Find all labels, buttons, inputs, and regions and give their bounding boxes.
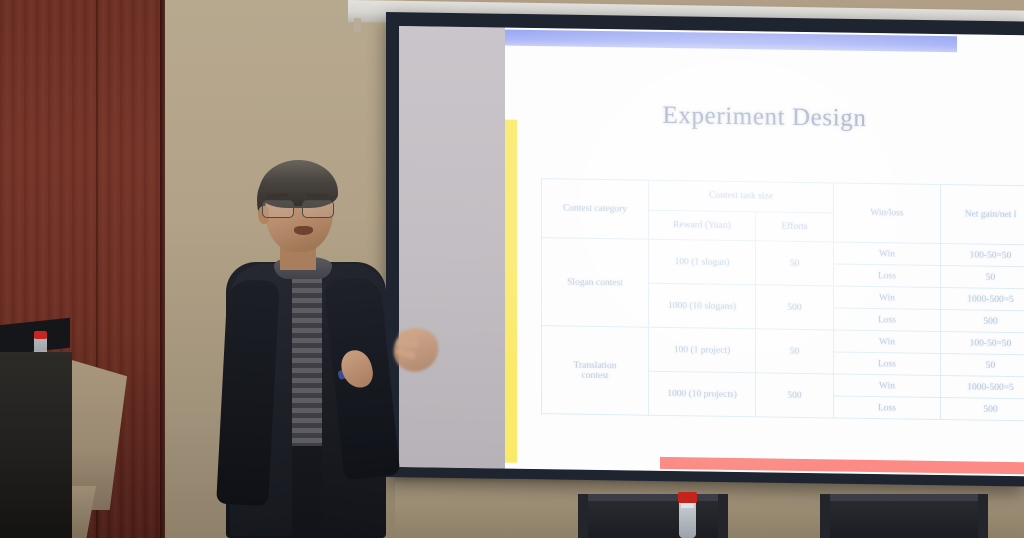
cell-net-gain: 1000-500=5 (941, 288, 1024, 311)
chair-right (820, 494, 988, 538)
cell-efforts-r3: 50 (756, 329, 834, 374)
chair-left-post (718, 494, 728, 538)
cell-reward-r4: 1000 (10 projects) (648, 371, 755, 417)
chair-right-post (820, 494, 830, 538)
cell-net-loss: 50 (941, 266, 1024, 289)
podium-body (0, 352, 72, 538)
chair-right-backrest (826, 494, 984, 501)
cell-outcome-loss: Loss (833, 308, 940, 332)
projected-slide: Experiment Design Contest category Conte… (505, 28, 1024, 477)
chair-left (578, 494, 728, 538)
th-reward-yuan: Reward (Yuan) (648, 210, 755, 241)
projection-screen-surface: Experiment Design Contest category Conte… (399, 26, 1024, 476)
experiment-design-table-wrap: Contest category Contest task size Win/l… (541, 178, 1024, 421)
cell-reward-r1: 100 (1 slogan) (648, 239, 755, 285)
slide-top-accent-bar (505, 30, 957, 53)
slide-title: Experiment Design (505, 100, 1024, 136)
presenter-sweater-front (292, 278, 322, 446)
finger (399, 329, 420, 338)
slide-left-accent-bar (505, 120, 517, 463)
cell-efforts-r4: 500 (756, 373, 834, 418)
glasses-lens-left (262, 200, 294, 218)
foreground-water-bottle-cap (678, 492, 697, 503)
cell-net-gain: 1000-500=5 (941, 376, 1024, 399)
glasses-lens-right (302, 200, 334, 218)
th-net-gain: Net gain/net l (941, 185, 1024, 245)
cell-reward-r2: 1000 (10 slogans) (648, 283, 755, 329)
experiment-design-table: Contest category Contest task size Win/l… (541, 178, 1024, 421)
cell-translation-line1: Translation (574, 360, 617, 371)
cell-net-gain: 100-50=50 (941, 244, 1024, 267)
cell-outcome-loss: Loss (833, 264, 940, 288)
cell-efforts-r1: 50 (756, 241, 834, 286)
cell-net-loss: 500 (941, 310, 1024, 333)
chair-left-backrest (584, 494, 724, 501)
th-contest-task-size: Contest task size (648, 180, 833, 212)
th-efforts: Efforts (756, 211, 834, 242)
cell-outcome-win: Win (833, 286, 940, 310)
lecture-room-photo: Experiment Design Contest category Conte… (0, 0, 1024, 538)
casing-bracket (354, 18, 361, 32)
glasses-icon (262, 200, 336, 217)
cell-outcome-win: Win (833, 242, 940, 266)
presenter-mouth (294, 226, 313, 235)
chair-left-post (578, 494, 588, 538)
presenter-far-hand (390, 324, 442, 376)
podium-water-bottle-cap (34, 331, 47, 339)
cell-net-gain: 100-50=50 (941, 332, 1024, 355)
cell-slogan-contest: Slogan contest (542, 238, 649, 328)
presenter (218, 160, 438, 538)
chair-right-post (978, 494, 988, 538)
finger (395, 347, 416, 360)
cell-outcome-loss: Loss (833, 352, 940, 376)
cell-net-loss: 50 (941, 354, 1024, 377)
cell-reward-r3: 100 (1 project) (648, 327, 755, 373)
cell-outcome-win: Win (833, 374, 940, 398)
th-contest-category: Contest category (542, 179, 649, 240)
table-header-row-1: Contest category Contest task size Win/l… (542, 179, 1024, 216)
slide-bottom-accent-bar (660, 457, 1024, 474)
th-win-loss: Win/loss (833, 183, 940, 244)
cell-outcome-win: Win (833, 330, 940, 354)
cell-net-loss: 500 (941, 398, 1024, 421)
cell-translation-contest: Translation contest (542, 326, 649, 416)
cell-outcome-loss: Loss (833, 396, 940, 420)
cell-translation-line2: contest (582, 370, 609, 380)
cell-efforts-r2: 500 (756, 285, 834, 330)
